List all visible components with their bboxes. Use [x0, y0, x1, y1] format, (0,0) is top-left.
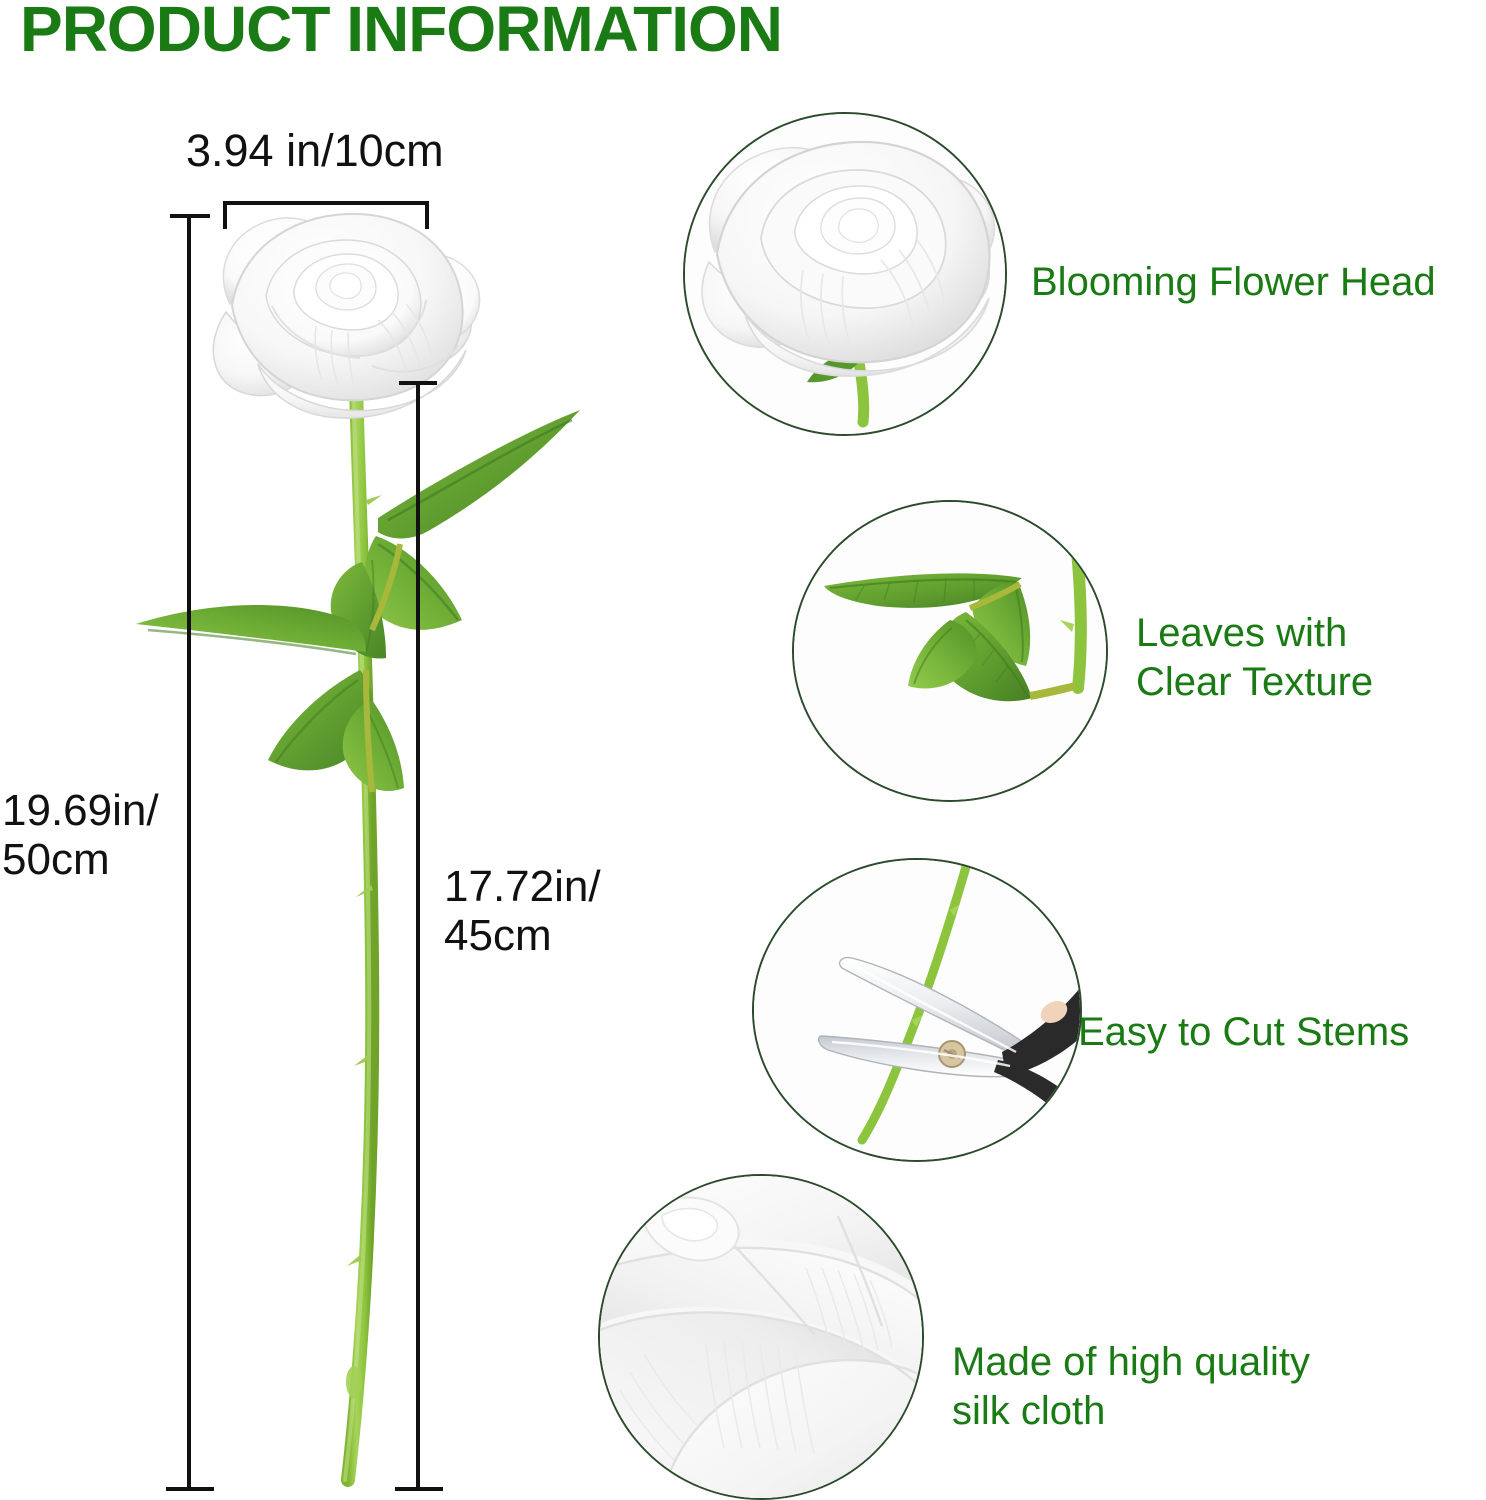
stem-length-bottom-tick: [395, 1487, 443, 1491]
green-leaves-closeup-icon: [794, 502, 1106, 800]
total-height-bottom-tick: [166, 1487, 214, 1491]
white-silk-petal-texture-icon: [600, 1176, 922, 1498]
total-height-label: 19.69in/ 50cm: [2, 786, 159, 885]
callout-silk-cloth-image: [598, 1174, 924, 1500]
flower-width-left-tick: [223, 201, 227, 229]
flower-width-right-tick: [425, 201, 429, 229]
total-height-top-tick: [170, 214, 210, 218]
flower-head-width-label: 3.94 in/10cm: [186, 126, 444, 176]
stem-length-label: 17.72in/ 45cm: [444, 862, 601, 961]
callout-silk-cloth-label: Made of high quality silk cloth: [952, 1338, 1310, 1436]
rose-bloom: [213, 214, 479, 418]
callout-blooming-flower-head-image: [683, 112, 1007, 436]
callout-easy-cut-stems-image: [752, 858, 1082, 1162]
callout-blooming-flower-head-label: Blooming Flower Head: [1031, 258, 1436, 307]
scissors-cutting-stem-icon: [754, 860, 1080, 1160]
callout-leaves-texture-image: [792, 500, 1108, 802]
callout-leaves-texture-label: Leaves with Clear Texture: [1136, 609, 1373, 707]
flower-width-rule: [225, 201, 429, 205]
product-information-page: PRODUCT INFORMATION: [0, 0, 1486, 1500]
stem-length-top-tick: [399, 381, 437, 385]
callout-easy-cut-stems-label: Easy to Cut Stems: [1078, 1008, 1409, 1057]
page-title: PRODUCT INFORMATION: [20, 0, 782, 64]
stem-length-rule: [416, 383, 420, 1491]
white-rose-closeup-icon: [685, 114, 1005, 434]
total-height-rule: [187, 216, 191, 1491]
